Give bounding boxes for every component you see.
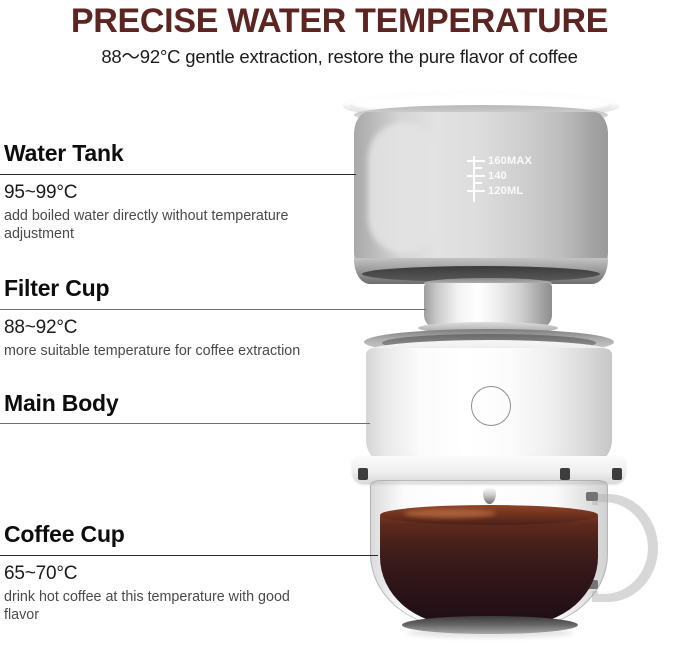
- scale-label-min: 120ML: [488, 186, 523, 197]
- callout-water-tank: Water Tank: [4, 140, 304, 167]
- leader-line-filter-cup: [0, 309, 426, 310]
- coffee-liquid: [380, 513, 598, 625]
- coffee-surface: [380, 505, 598, 525]
- foot-notch-left: [358, 468, 368, 480]
- water-tank-body: [354, 112, 608, 274]
- foot-notch-right: [560, 468, 570, 480]
- callout-coffee-cup: Coffee Cup: [4, 521, 304, 548]
- water-tank-bottom: [354, 258, 608, 284]
- filter-cup-lip: [418, 322, 558, 334]
- main-body-top-inner: [382, 334, 596, 352]
- coffee-highlight: [404, 509, 496, 518]
- coffee-cup-glass: [370, 480, 608, 628]
- scale-tick-max: [467, 160, 485, 162]
- water-tank-top-rim: [354, 105, 608, 125]
- scale-tick-min: [467, 190, 485, 192]
- leader-line-water-tank: [0, 174, 356, 175]
- water-tank-gloss: [368, 122, 440, 254]
- coffee-drip-icon: [483, 487, 496, 504]
- lid-rim: [350, 96, 612, 116]
- main-body-top: [364, 329, 614, 355]
- scale-label-max: 160MAX: [488, 156, 532, 167]
- coffee-cup-handle: [592, 494, 658, 602]
- callout-coffee-cup-heading: Coffee Cup: [4, 521, 304, 548]
- water-tank-base: [362, 266, 600, 282]
- filter-cup-collar: [424, 278, 552, 288]
- header: PRECISE WATER TEMPERATURE 88～92°C gentle…: [0, 0, 679, 68]
- callout-filter-cup: Filter Cup: [4, 275, 304, 302]
- callout-filter-cup-description: more suitable temperature for coffee ext…: [4, 340, 304, 360]
- callout-filter-cup-heading: Filter Cup: [4, 275, 304, 302]
- callout-water-tank-description: add boiled water directly without temper…: [4, 205, 304, 243]
- coffee-cup-handle-inner: [598, 502, 648, 594]
- infographic-page: PRECISE WATER TEMPERATURE 88～92°C gentle…: [0, 0, 679, 654]
- water-tank-scale: 160MAX 140 120ML: [467, 156, 567, 202]
- leader-line-main-body: [0, 423, 370, 424]
- main-body-ring: [368, 340, 610, 362]
- coffee-cup-base: [402, 616, 578, 634]
- lid-top: [344, 92, 618, 118]
- callout-water-tank-detail: 95~99°C add boiled water directly withou…: [4, 177, 304, 243]
- scale-tick-minor-2: [473, 182, 482, 184]
- page-title: PRECISE WATER TEMPERATURE: [0, 0, 679, 40]
- callout-filter-cup-temperature: 88~92°C: [4, 312, 304, 340]
- handle-clip-bottom: [586, 580, 598, 589]
- handle-clip-top: [586, 492, 598, 501]
- scale-spine: [473, 156, 475, 202]
- scale-tick-mid: [467, 175, 485, 177]
- callout-filter-cup-detail: 88~92°C more suitable temperature for co…: [4, 312, 304, 360]
- callout-coffee-cup-detail: 65~70°C drink hot coffee at this tempera…: [4, 558, 304, 624]
- callout-coffee-cup-description: drink hot coffee at this temperature wit…: [4, 586, 304, 624]
- scale-label-mid: 140: [488, 171, 507, 182]
- main-body-shell: [366, 348, 612, 466]
- callout-water-tank-temperature: 95~99°C: [4, 177, 304, 205]
- page-subtitle: 88～92°C gentle extraction, restore the p…: [0, 40, 679, 68]
- callout-main-body: Main Body: [4, 390, 304, 417]
- leader-line-coffee-cup: [0, 555, 378, 556]
- callout-main-body-heading: Main Body: [4, 390, 304, 417]
- lid-shadow: [356, 106, 606, 124]
- main-body-foot: [352, 456, 626, 484]
- coffee-cup-shadow: [406, 628, 574, 638]
- callout-water-tank-heading: Water Tank: [4, 140, 304, 167]
- callout-coffee-cup-temperature: 65~70°C: [4, 558, 304, 586]
- power-button-icon[interactable]: [471, 386, 511, 426]
- scale-tick-minor-1: [473, 167, 482, 169]
- filter-cup-body: [424, 283, 552, 327]
- foot-notch-far: [612, 468, 622, 480]
